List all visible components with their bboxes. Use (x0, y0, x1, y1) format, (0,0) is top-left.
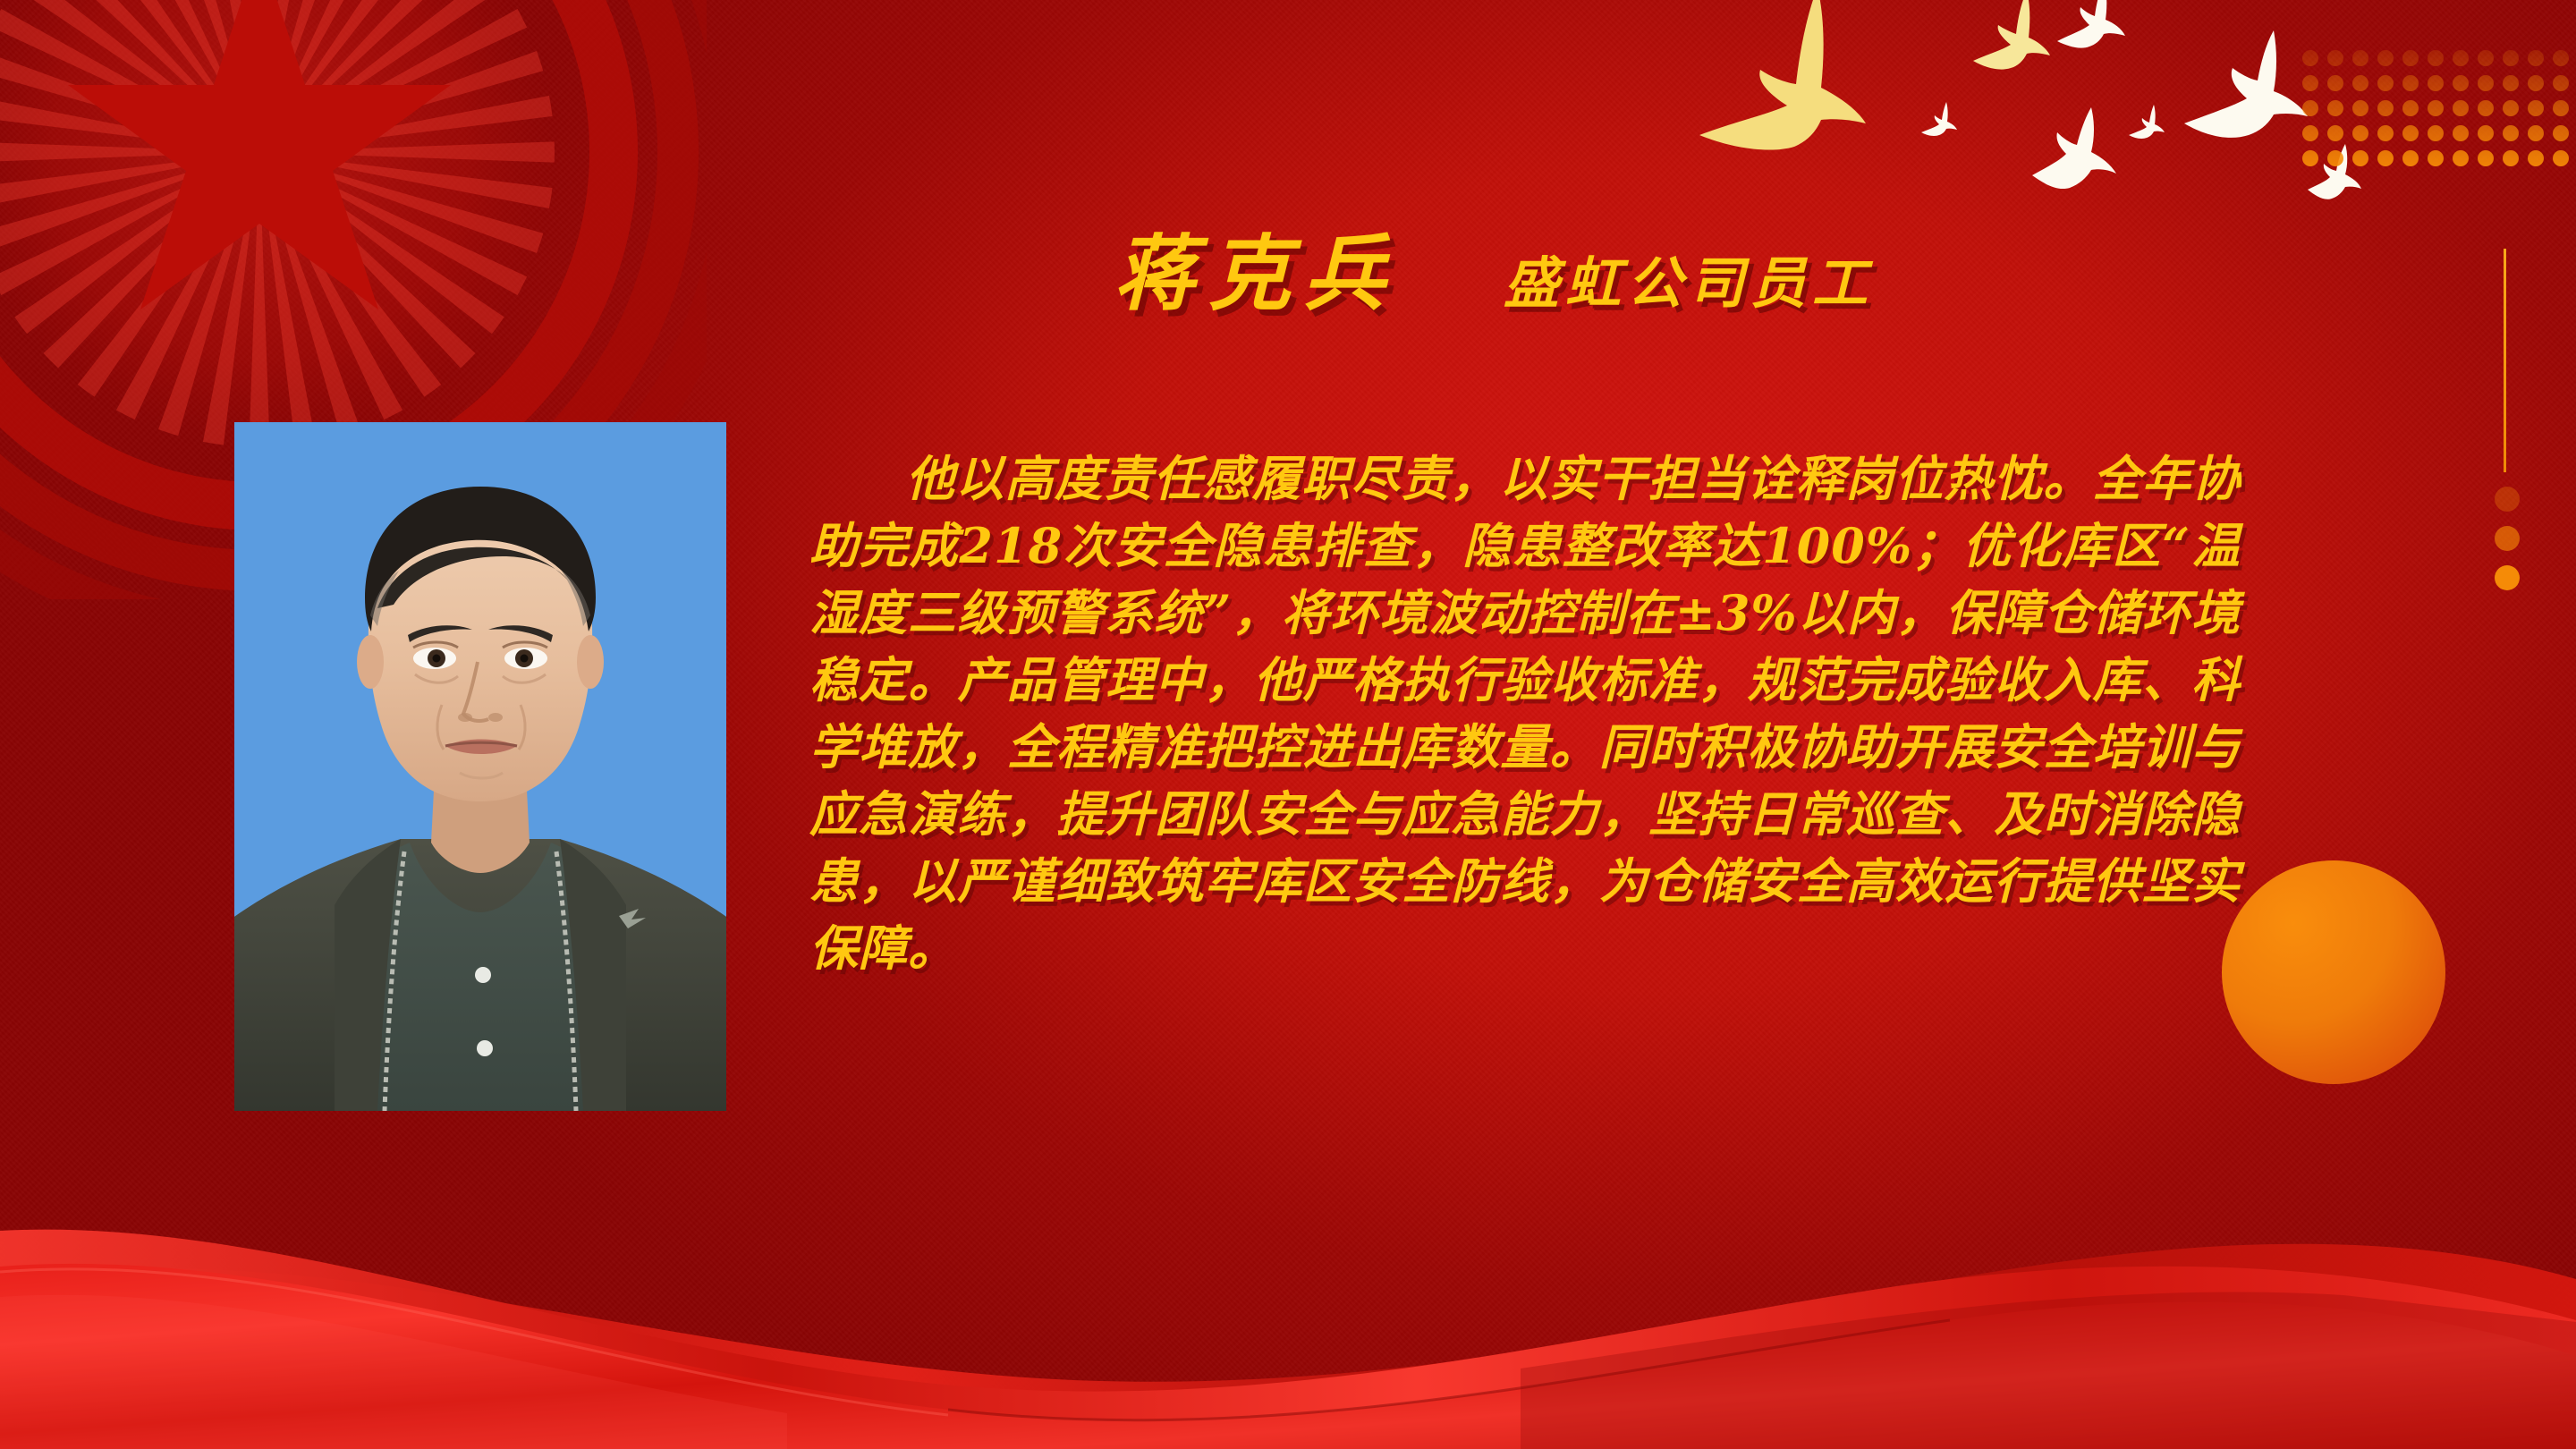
dove-icon (2057, 0, 2125, 48)
dove-icon (1973, 0, 2050, 70)
orange-circle-decoration (2222, 860, 2445, 1084)
dove-icon (1699, 0, 1866, 150)
header: 蒋克兵 盛虹公司员工 (1114, 208, 1874, 326)
accent-dot-3 (2495, 565, 2520, 590)
dove-icon (2129, 105, 2165, 139)
person-name: 蒋克兵 (1114, 208, 1398, 326)
vertical-accent-line (2504, 249, 2506, 472)
dove-icon (2184, 30, 2308, 138)
slide-root: 蒋克兵 盛虹公司员工 (0, 0, 2576, 1449)
accent-dot-2 (2495, 526, 2520, 551)
person-role: 盛虹公司员工 (1504, 238, 1874, 318)
dove-icon (2032, 107, 2116, 189)
portrait-photo (234, 422, 726, 1111)
dot-grid-decoration (2302, 50, 2576, 175)
accent-dot-1 (2495, 487, 2520, 512)
bio-paragraph: 他以高度责任感履职尽责，以实干担当诠释岗位热忱。全年协助完成218次安全隐患排查… (809, 445, 2241, 982)
dove-icon (1921, 102, 1957, 136)
silk-ribbon-decoration (0, 1145, 2576, 1449)
